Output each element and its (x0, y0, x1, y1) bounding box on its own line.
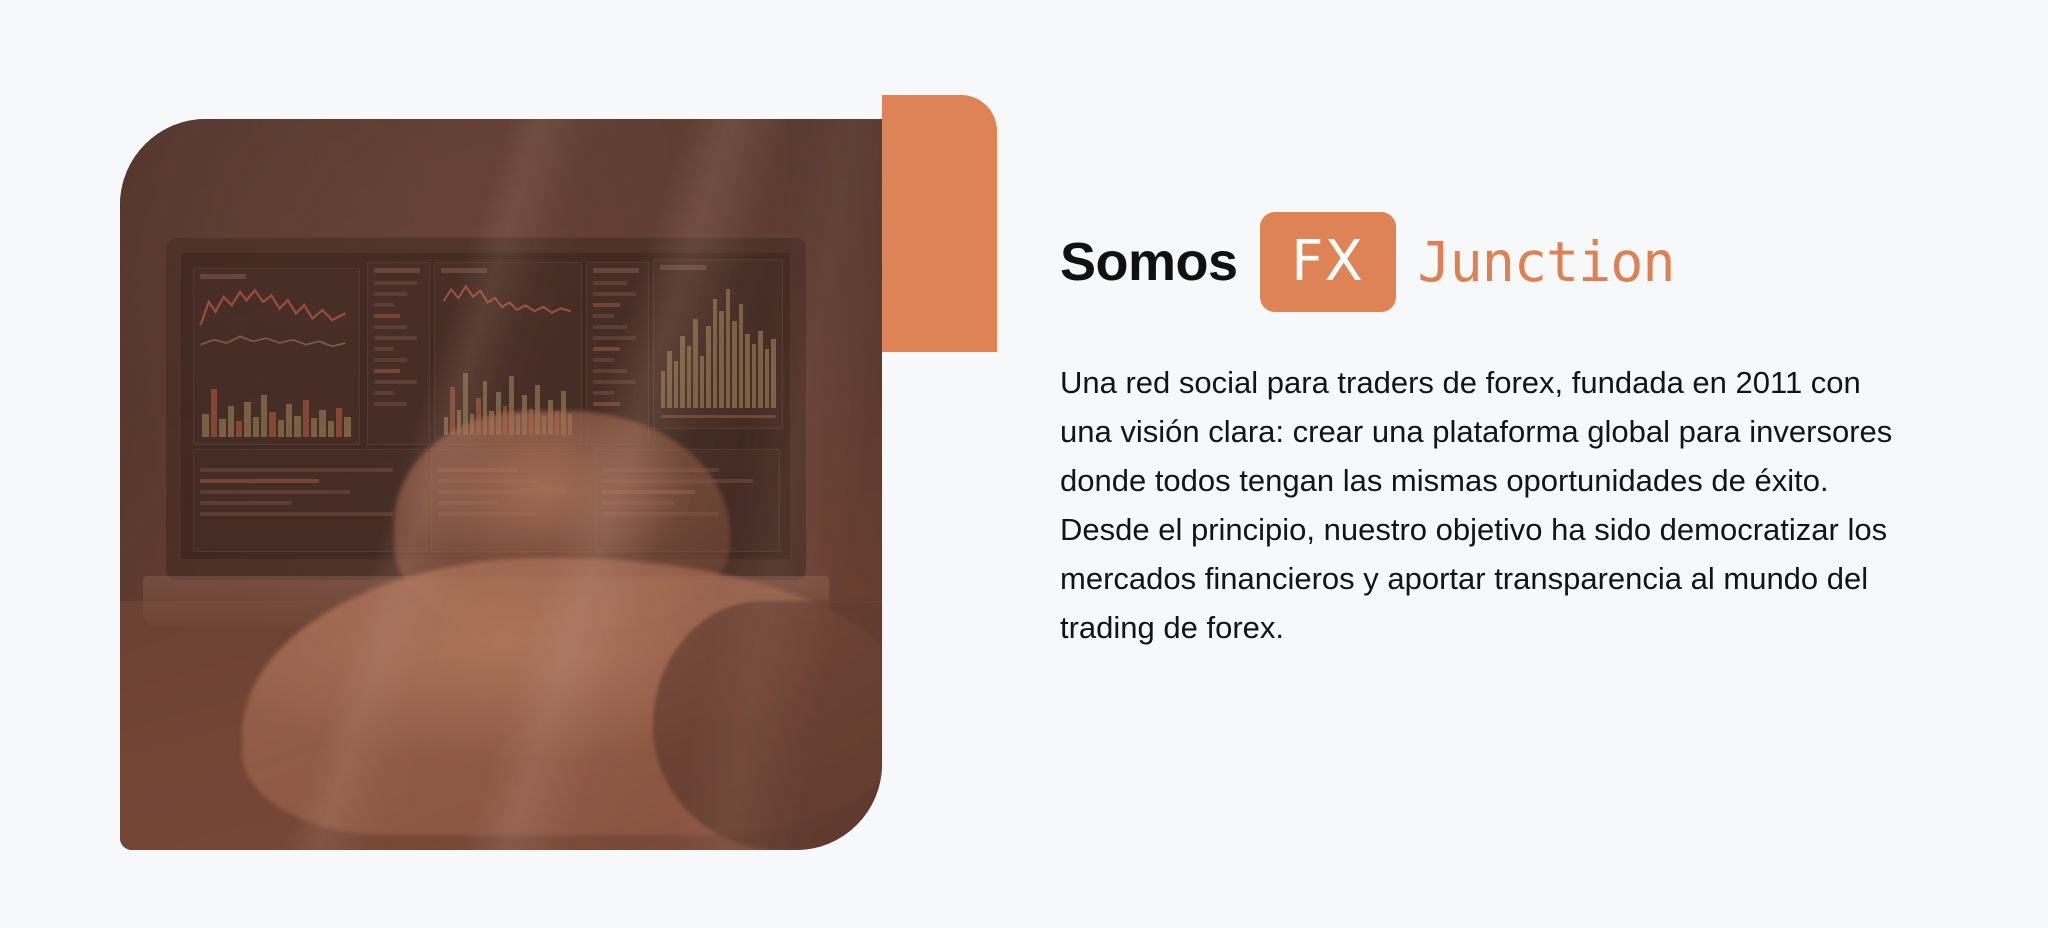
about-section: Somos FX Junction Una red social para tr… (0, 0, 2048, 928)
fx-badge-label: FX (1291, 234, 1364, 290)
brand-color-overlay-secondary (120, 119, 882, 850)
photo-scene (120, 119, 882, 850)
trading-photo-card (120, 119, 882, 850)
media-block (120, 95, 870, 850)
about-copy: Somos FX Junction Una red social para tr… (1060, 210, 1940, 683)
brand-wordmark: Junction (1418, 235, 1675, 290)
fx-logo-badge: FX (1260, 212, 1396, 312)
about-paragraph: Una red social para traders de forex, fu… (1060, 358, 1920, 652)
page-title: Somos FX Junction (1060, 210, 1940, 314)
headline-prefix: Somos (1060, 235, 1238, 289)
decorative-accent-tab (882, 95, 997, 352)
